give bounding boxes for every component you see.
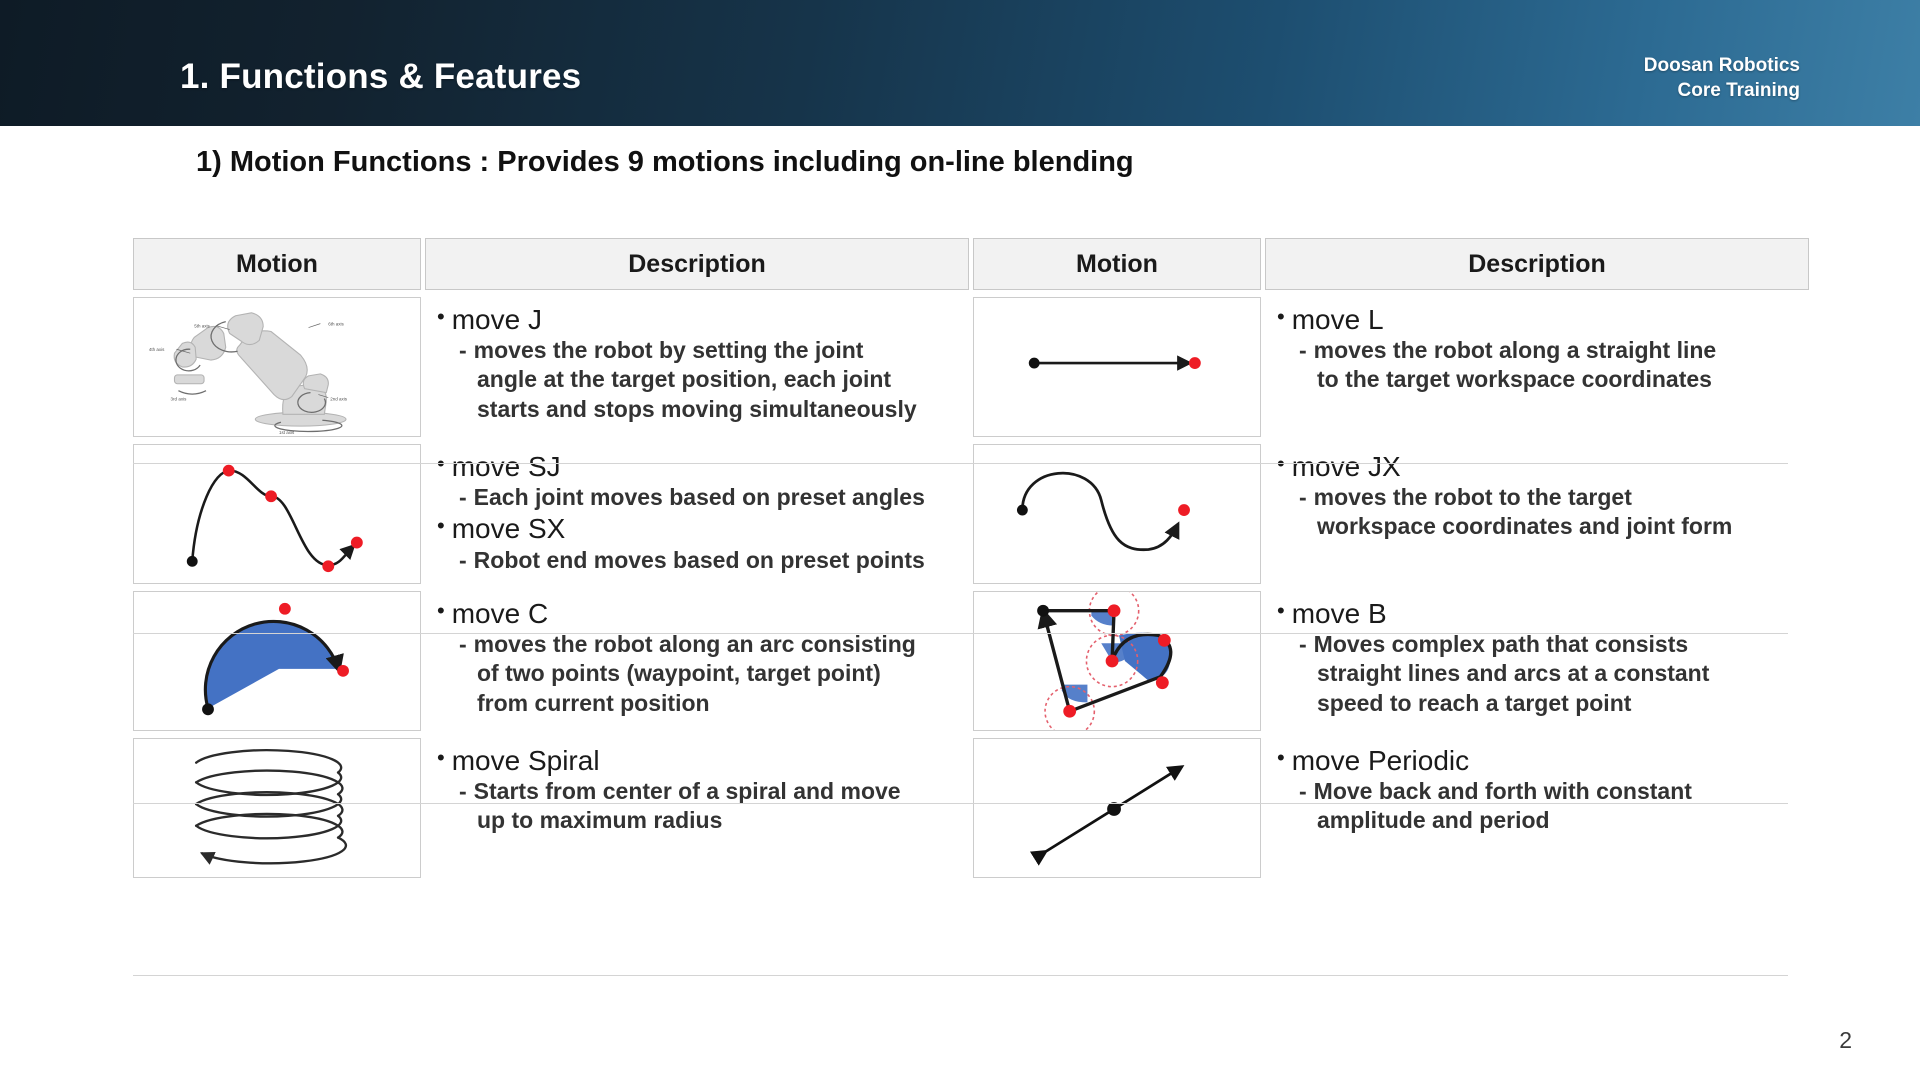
detail-text: moves the robot by setting the joint [474, 336, 864, 365]
detail-line: speed to reach a target point [1277, 689, 1799, 718]
page-title: 1. Functions & Features [180, 57, 581, 97]
bullet-move-l: • move L [1277, 303, 1799, 336]
detail-text: speed to reach a target point [1317, 689, 1631, 718]
detail-line: starts and stops moving simultaneously [437, 395, 959, 424]
bullet-move-c: • move C [437, 597, 959, 630]
motion-title: move SJ [452, 450, 561, 483]
row-divider [133, 633, 1788, 634]
detail-text: amplitude and period [1317, 806, 1550, 835]
description-cell-move-periodic: • move Periodic - Move back and forth wi… [1265, 738, 1809, 878]
description-cell-move-sj-sx: • move SJ - Each joint moves based on pr… [425, 444, 969, 584]
bullet-dot-icon: • [437, 597, 445, 626]
column-header-motion-left: Motion [133, 238, 421, 290]
detail-text: Robot end moves based on preset points [474, 546, 925, 575]
detail-line: - Robot end moves based on preset points [437, 546, 959, 575]
motion-title: move Spiral [452, 744, 600, 777]
column-header-description-right: Description [1265, 238, 1809, 290]
motion-title: move SX [452, 512, 566, 545]
description-cell-move-spiral: • move Spiral - Starts from center of a … [425, 738, 969, 878]
bullet-dot-icon: • [1277, 303, 1285, 332]
s-curve-figure [973, 444, 1261, 584]
blended-path-figure [973, 591, 1261, 731]
svg-text:5th axis: 5th axis [194, 324, 210, 329]
column-header-description-left: Description [425, 238, 969, 290]
detail-text: workspace coordinates and joint form [1317, 512, 1732, 541]
detail-text: Moves complex path that consists [1314, 630, 1688, 659]
spline-waypoints-figure [133, 444, 421, 584]
dash-icon: - [459, 630, 467, 659]
page-number: 2 [1839, 1027, 1852, 1054]
bullet-move-sj: • move SJ [437, 450, 959, 483]
dash-icon: - [459, 336, 467, 365]
detail-line: to the target workspace coordinates [1277, 365, 1799, 394]
svg-text:6th axis: 6th axis [328, 322, 344, 327]
detail-text: moves the robot to the target [1314, 483, 1632, 512]
detail-line: - moves the robot along an arc consistin… [437, 630, 959, 659]
bullet-dot-icon: • [1277, 744, 1285, 773]
robot-arm-axes-icon: 6th axis 2nd axis 5th axis 4th axis 3rd … [134, 298, 420, 436]
brand-line-1: Doosan Robotics [1644, 53, 1800, 78]
detail-line: straight lines and arcs at a constant [1277, 659, 1799, 688]
robot-arm-axes-figure: 6th axis 2nd axis 5th axis 4th axis 3rd … [133, 297, 421, 437]
detail-line: - moves the robot by setting the joint [437, 336, 959, 365]
detail-line: of two points (waypoint, target point) [437, 659, 959, 688]
bullet-move-spiral: • move Spiral [437, 744, 959, 777]
motion-title: move L [1292, 303, 1384, 336]
detail-text: moves the robot along a straight line [1314, 336, 1717, 365]
brand-line-2: Core Training [1644, 78, 1800, 103]
detail-line: up to maximum radius [437, 806, 959, 835]
detail-text: Each joint moves based on preset angles [474, 483, 925, 512]
detail-line: angle at the target position, each joint [437, 365, 959, 394]
row-divider [133, 463, 1788, 464]
description-cell-move-jx: • move JX - moves the robot to the targe… [1265, 444, 1809, 584]
blended-path-icon [974, 592, 1260, 730]
motion-title: move B [1292, 597, 1387, 630]
arc-sector-icon [134, 592, 420, 730]
bullet-move-jx: • move JX [1277, 450, 1799, 483]
bullet-move-periodic: • move Periodic [1277, 744, 1799, 777]
detail-line: from current position [437, 689, 959, 718]
bullet-move-b: • move B [1277, 597, 1799, 630]
motion-title: move J [452, 303, 542, 336]
description-cell-move-l: • move L - moves the robot along a strai… [1265, 297, 1809, 437]
motion-title: move C [452, 597, 548, 630]
detail-line: - moves the robot along a straight line [1277, 336, 1799, 365]
bullet-move-j: • move J [437, 303, 959, 336]
bullet-dot-icon: • [437, 450, 445, 479]
svg-text:4th axis: 4th axis [149, 347, 165, 352]
bullet-dot-icon: • [437, 744, 445, 773]
dash-icon: - [1299, 483, 1307, 512]
slide-header-band: 1. Functions & Features Doosan Robotics … [0, 0, 1920, 126]
bullet-dot-icon: • [1277, 450, 1285, 479]
description-cell-move-j: • move J - moves the robot by setting th… [425, 297, 969, 437]
detail-line: - moves the robot to the target [1277, 483, 1799, 512]
bullet-move-sx: • move SX [437, 512, 959, 545]
column-header-motion-right: Motion [973, 238, 1261, 290]
detail-line: - Moves complex path that consists [1277, 630, 1799, 659]
table-row: • move SJ - Each joint moves based on pr… [133, 444, 1788, 584]
table-header-row: Motion Description Motion Description [133, 238, 1788, 290]
bullet-dot-icon: • [437, 512, 445, 541]
detail-text: moves the robot along an arc consisting [474, 630, 916, 659]
table-bottom-divider [133, 975, 1788, 976]
svg-text:2nd axis: 2nd axis [330, 397, 348, 402]
detail-line: workspace coordinates and joint form [1277, 512, 1799, 541]
straight-line-arrow-figure [973, 297, 1261, 437]
description-cell-move-b: • move B - Moves complex path that consi… [1265, 591, 1809, 731]
detail-text: up to maximum radius [477, 806, 722, 835]
double-arrow-figure [973, 738, 1261, 878]
table-row: 6th axis 2nd axis 5th axis 4th axis 3rd … [133, 297, 1788, 437]
motion-title: move Periodic [1292, 744, 1469, 777]
dash-icon: - [1299, 336, 1307, 365]
detail-text: of two points (waypoint, target point) [477, 659, 881, 688]
bullet-dot-icon: • [437, 303, 445, 332]
detail-text: angle at the target position, each joint [477, 365, 891, 394]
table-row: • move C - moves the robot along an arc … [133, 591, 1788, 731]
svg-text:3rd axis: 3rd axis [171, 397, 188, 402]
section-subtitle: 1) Motion Functions : Provides 9 motions… [196, 146, 1134, 179]
motion-title: move JX [1292, 450, 1401, 483]
table-row: • move Spiral - Starts from center of a … [133, 738, 1788, 878]
helix-spiral-icon [134, 739, 420, 877]
straight-line-arrow-icon [974, 298, 1260, 436]
detail-text: from current position [477, 689, 710, 718]
dash-icon: - [459, 483, 467, 512]
detail-line: - Each joint moves based on preset angle… [437, 483, 959, 512]
spline-waypoints-icon [134, 445, 420, 583]
dash-icon: - [1299, 630, 1307, 659]
s-curve-icon [974, 445, 1260, 583]
detail-text: to the target workspace coordinates [1317, 365, 1712, 394]
svg-text:1st axis: 1st axis [279, 430, 295, 435]
detail-text: straight lines and arcs at a constant [1317, 659, 1709, 688]
brand-logo-text: Doosan Robotics Core Training [1644, 53, 1800, 103]
motion-functions-table: Motion Description Motion Description [133, 238, 1788, 885]
row-divider [133, 803, 1788, 804]
double-arrow-icon [974, 739, 1260, 877]
arc-sector-figure [133, 591, 421, 731]
detail-text: starts and stops moving simultaneously [477, 395, 917, 424]
helix-spiral-figure [133, 738, 421, 878]
detail-line: amplitude and period [1277, 806, 1799, 835]
dash-icon: - [459, 546, 467, 575]
bullet-dot-icon: • [1277, 597, 1285, 626]
description-cell-move-c: • move C - moves the robot along an arc … [425, 591, 969, 731]
